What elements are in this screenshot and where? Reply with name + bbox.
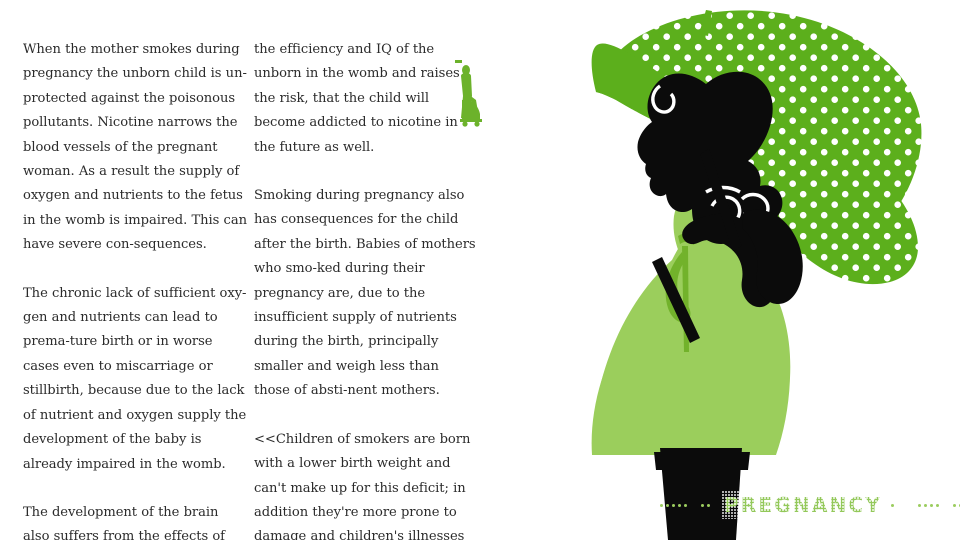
umbrella-canopy [592, 10, 922, 284]
head-and-hair [637, 72, 782, 244]
dot [672, 504, 675, 507]
dot [701, 504, 704, 507]
article-body: When the mother smokes during pregnancy … [0, 38, 520, 508]
paragraph: the efficiency and IQ of the unborn in t… [254, 38, 478, 160]
dress-bodice [673, 196, 754, 282]
decorative-dots-left [660, 495, 724, 515]
dot-group [953, 504, 960, 507]
dress-ribbon-loop [666, 252, 691, 322]
dress-ribbon [682, 246, 689, 352]
hair-curl-details [653, 86, 768, 224]
pregnant-woman-silhouette [592, 72, 803, 540]
dot [930, 504, 933, 507]
article-column-2: the efficiency and IQ of the unborn in t… [254, 38, 478, 540]
umbrella-handle [700, 149, 742, 251]
paragraph: The development of the brain also suffer… [23, 501, 247, 540]
dot-group [918, 504, 939, 507]
arm [682, 214, 777, 307]
dot [707, 504, 710, 507]
paragraph: The chronic lack of sufficient oxy-gen a… [23, 282, 247, 477]
decorative-dots-right [882, 495, 960, 515]
paragraph: Smoking during pregnancy also has conseq… [254, 184, 478, 404]
pregnancy-wordmark: PREGNANCY [724, 495, 882, 515]
wordmark-text: PREGNANCY [724, 493, 882, 517]
dress-ribbon-knot [678, 233, 697, 245]
page-root: When the mother smokes during pregnancy … [0, 0, 960, 540]
dot-group [701, 504, 710, 507]
dot [936, 504, 939, 507]
dot [684, 504, 687, 507]
dot [678, 504, 681, 507]
dot [953, 504, 956, 507]
article-column-1: When the mother smokes during pregnancy … [23, 38, 247, 540]
dot [660, 504, 663, 507]
dot [666, 504, 669, 507]
dot [918, 504, 921, 507]
dot-group [660, 504, 687, 507]
dot [891, 504, 894, 507]
dot [924, 504, 927, 507]
paragraph: <<Children of smokers are born with a lo… [254, 428, 478, 540]
dot-group [891, 504, 894, 507]
dress-skirt [592, 239, 790, 455]
footer-wordmark-area: PREGNANCY [660, 490, 960, 520]
paragraph: When the mother smokes during pregnancy … [23, 38, 247, 258]
